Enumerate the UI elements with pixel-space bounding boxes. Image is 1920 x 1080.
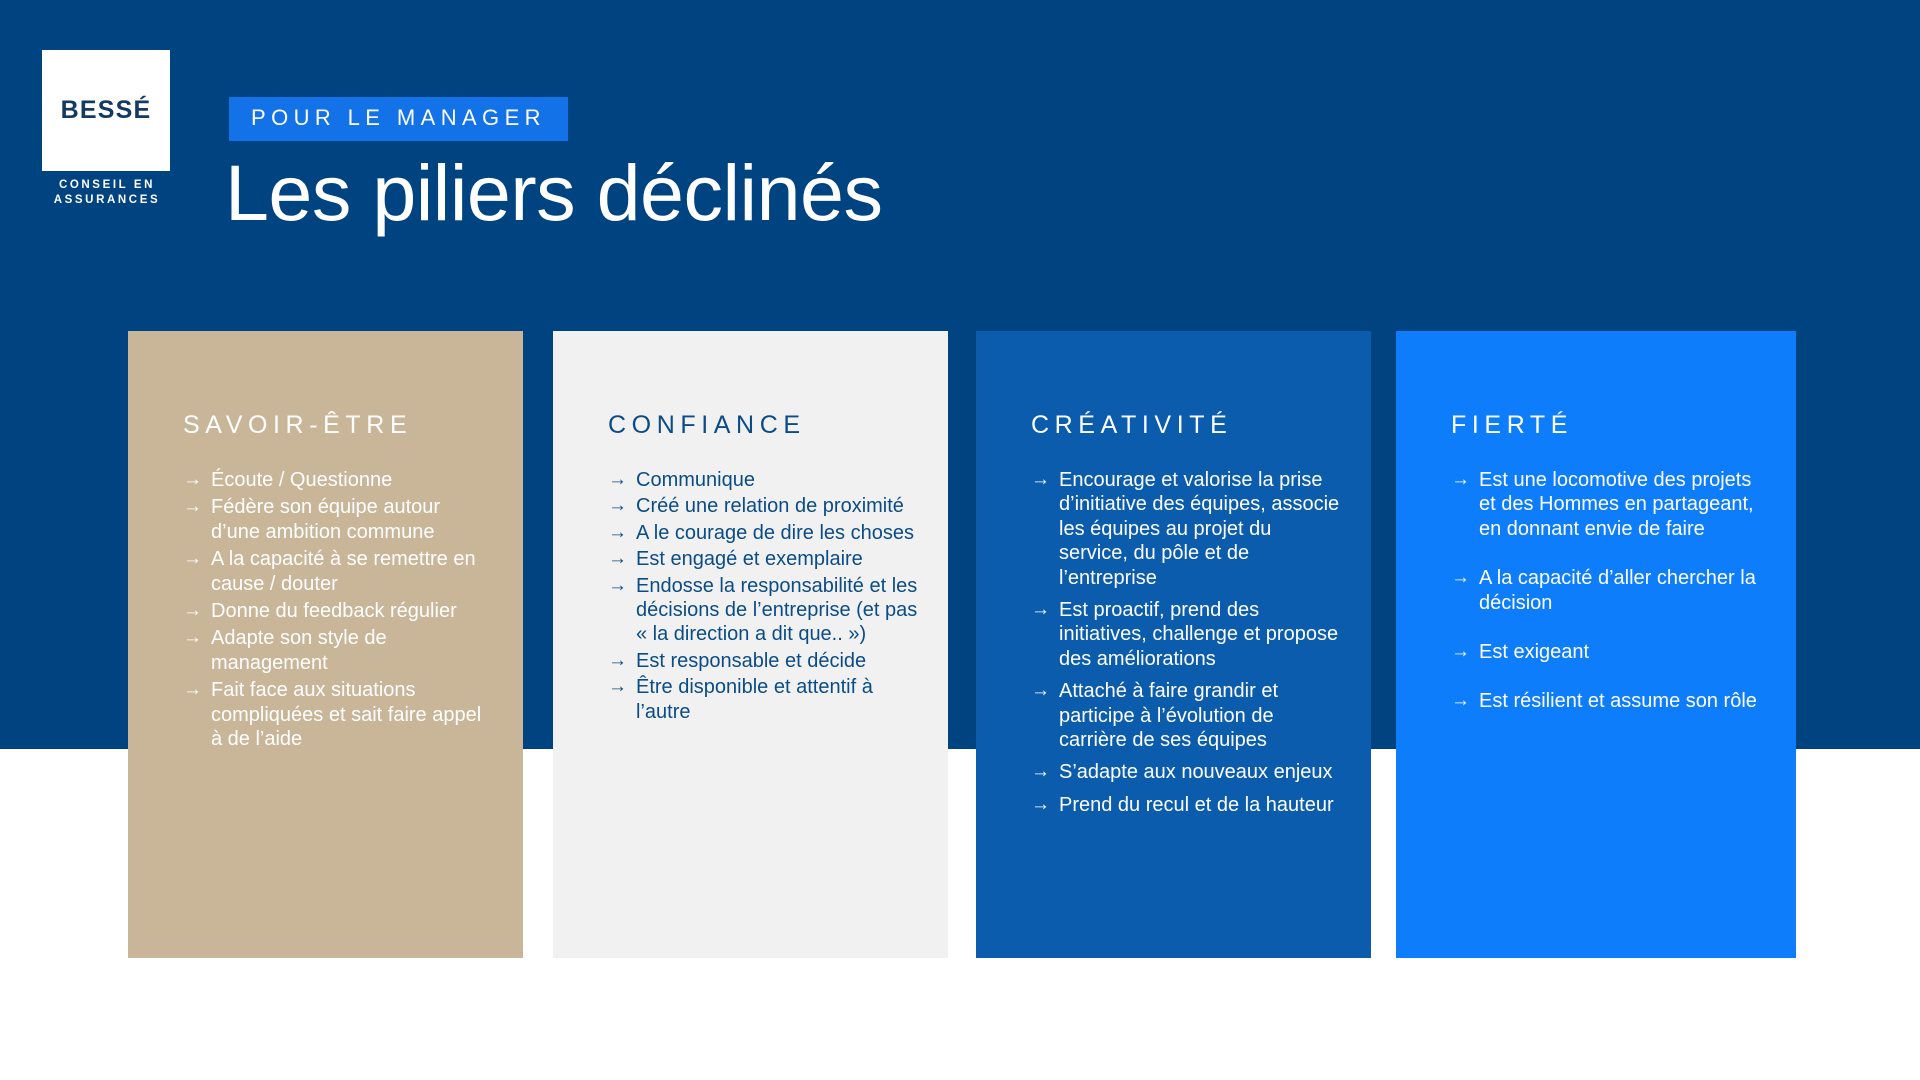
arrow-icon: →	[1031, 468, 1050, 590]
list-item: → Communique	[608, 468, 918, 492]
arrow-icon: →	[183, 599, 202, 623]
pillar-title-savoir-etre: SAVOIR-ÊTRE	[183, 413, 493, 438]
list-item: → Est responsable et décide	[608, 649, 918, 673]
list-item-text: S’adapte aux nouveaux enjeux	[1059, 760, 1341, 784]
arrow-icon: →	[1031, 679, 1050, 752]
list-item: → Être disponible et attentif à l’autre	[608, 675, 918, 724]
pillar-title-creativite: CRÉATIVITÉ	[1031, 413, 1341, 438]
list-item: → Écoute / Questionne	[183, 468, 493, 492]
list-item: → Fait face aux situations compliquées e…	[183, 678, 493, 751]
list-item-text: Est résilient et assume son rôle	[1479, 689, 1766, 713]
arrow-icon: →	[1031, 793, 1050, 817]
list-item-text: A la capacité d’aller chercher la décisi…	[1479, 566, 1766, 615]
list-item-text: Est engagé et exemplaire	[636, 547, 918, 571]
slide-canvas: BESSÉ CONSEIL EN ASSURANCES POUR LE MANA…	[0, 0, 1920, 1080]
list-item: → Est exigeant	[1451, 640, 1766, 664]
list-item-text: Encourage et valorise la prise d’initiat…	[1059, 468, 1341, 590]
list-item: → S’adapte aux nouveaux enjeux	[1031, 760, 1341, 784]
arrow-icon: →	[608, 547, 627, 571]
list-item: → Est engagé et exemplaire	[608, 547, 918, 571]
list-item: → Encourage et valorise la prise d’initi…	[1031, 468, 1341, 590]
arrow-icon: →	[183, 547, 202, 596]
list-item-text: Être disponible et attentif à l’autre	[636, 675, 918, 724]
arrow-icon: →	[1451, 689, 1470, 713]
arrow-icon: →	[608, 649, 627, 673]
arrow-icon: →	[608, 675, 627, 724]
list-item: → Endosse la responsabilité et les décis…	[608, 574, 918, 647]
list-item-text: Fédère son équipe autour d’une ambition …	[211, 495, 493, 544]
list-item-text: Est responsable et décide	[636, 649, 918, 673]
arrow-icon: →	[608, 574, 627, 647]
list-item-text: Fait face aux situations compliquées et …	[211, 678, 493, 751]
list-item: → Est résilient et assume son rôle	[1451, 689, 1766, 713]
list-item-text: Est une locomotive des projets et des Ho…	[1479, 468, 1766, 541]
pillar-cards-row: SAVOIR-ÊTRE → Écoute / Questionne → Fédè…	[0, 0, 1920, 1080]
list-item: → A la capacité d’aller chercher la déci…	[1451, 566, 1766, 615]
list-item-text: Prend du recul et de la hauteur	[1059, 793, 1341, 817]
pillar-title-fierte: FIERTÉ	[1451, 413, 1766, 438]
list-item-text: Attaché à faire grandir et participe à l…	[1059, 679, 1341, 752]
list-item: → Fédère son équipe autour d’une ambitio…	[183, 495, 493, 544]
arrow-icon: →	[1451, 468, 1470, 541]
list-item-text: A la capacité à se remettre en cause / d…	[211, 547, 493, 596]
pillar-card-fierte: FIERTÉ → Est une locomotive des projets …	[1396, 331, 1796, 958]
arrow-icon: →	[1451, 640, 1470, 664]
pillar-list-fierte: → Est une locomotive des projets et des …	[1451, 468, 1766, 714]
arrow-icon: →	[183, 626, 202, 675]
arrow-icon: →	[1451, 566, 1470, 615]
arrow-icon: →	[1031, 598, 1050, 671]
arrow-icon: →	[1031, 760, 1050, 784]
list-item: → Adapte son style de management	[183, 626, 493, 675]
list-item: → Donne du feedback régulier	[183, 599, 493, 623]
list-item-text: Créé une relation de proximité	[636, 494, 918, 518]
list-item-text: Endosse la responsabilité et les décisio…	[636, 574, 918, 647]
arrow-icon: →	[183, 468, 202, 492]
list-item-text: Écoute / Questionne	[211, 468, 493, 492]
pillar-card-savoir-etre: SAVOIR-ÊTRE → Écoute / Questionne → Fédè…	[128, 331, 523, 958]
list-item: → Est proactif, prend des initiatives, c…	[1031, 598, 1341, 671]
list-item-text: A le courage de dire les choses	[636, 521, 918, 545]
pillar-list-savoir-etre: → Écoute / Questionne → Fédère son équip…	[183, 468, 493, 751]
list-item: → Attaché à faire grandir et participe à…	[1031, 679, 1341, 752]
list-item: → Créé une relation de proximité	[608, 494, 918, 518]
pillar-card-confiance: CONFIANCE → Communique → Créé une relati…	[553, 331, 948, 958]
list-item: → Prend du recul et de la hauteur	[1031, 793, 1341, 817]
list-item-text: Communique	[636, 468, 918, 492]
list-item-text: Est proactif, prend des initiatives, cha…	[1059, 598, 1341, 671]
arrow-icon: →	[608, 494, 627, 518]
arrow-icon: →	[183, 678, 202, 751]
list-item-text: Donne du feedback régulier	[211, 599, 493, 623]
pillar-list-creativite: → Encourage et valorise la prise d’initi…	[1031, 468, 1341, 817]
list-item-text: Est exigeant	[1479, 640, 1766, 664]
arrow-icon: →	[183, 495, 202, 544]
pillar-title-confiance: CONFIANCE	[608, 413, 918, 438]
pillar-list-confiance: → Communique → Créé une relation de prox…	[608, 468, 918, 724]
list-item: → A le courage de dire les choses	[608, 521, 918, 545]
pillar-card-creativite: CRÉATIVITÉ → Encourage et valorise la pr…	[976, 331, 1371, 958]
list-item: → Est une locomotive des projets et des …	[1451, 468, 1766, 541]
arrow-icon: →	[608, 468, 627, 492]
arrow-icon: →	[608, 521, 627, 545]
list-item-text: Adapte son style de management	[211, 626, 493, 675]
list-item: → A la capacité à se remettre en cause /…	[183, 547, 493, 596]
